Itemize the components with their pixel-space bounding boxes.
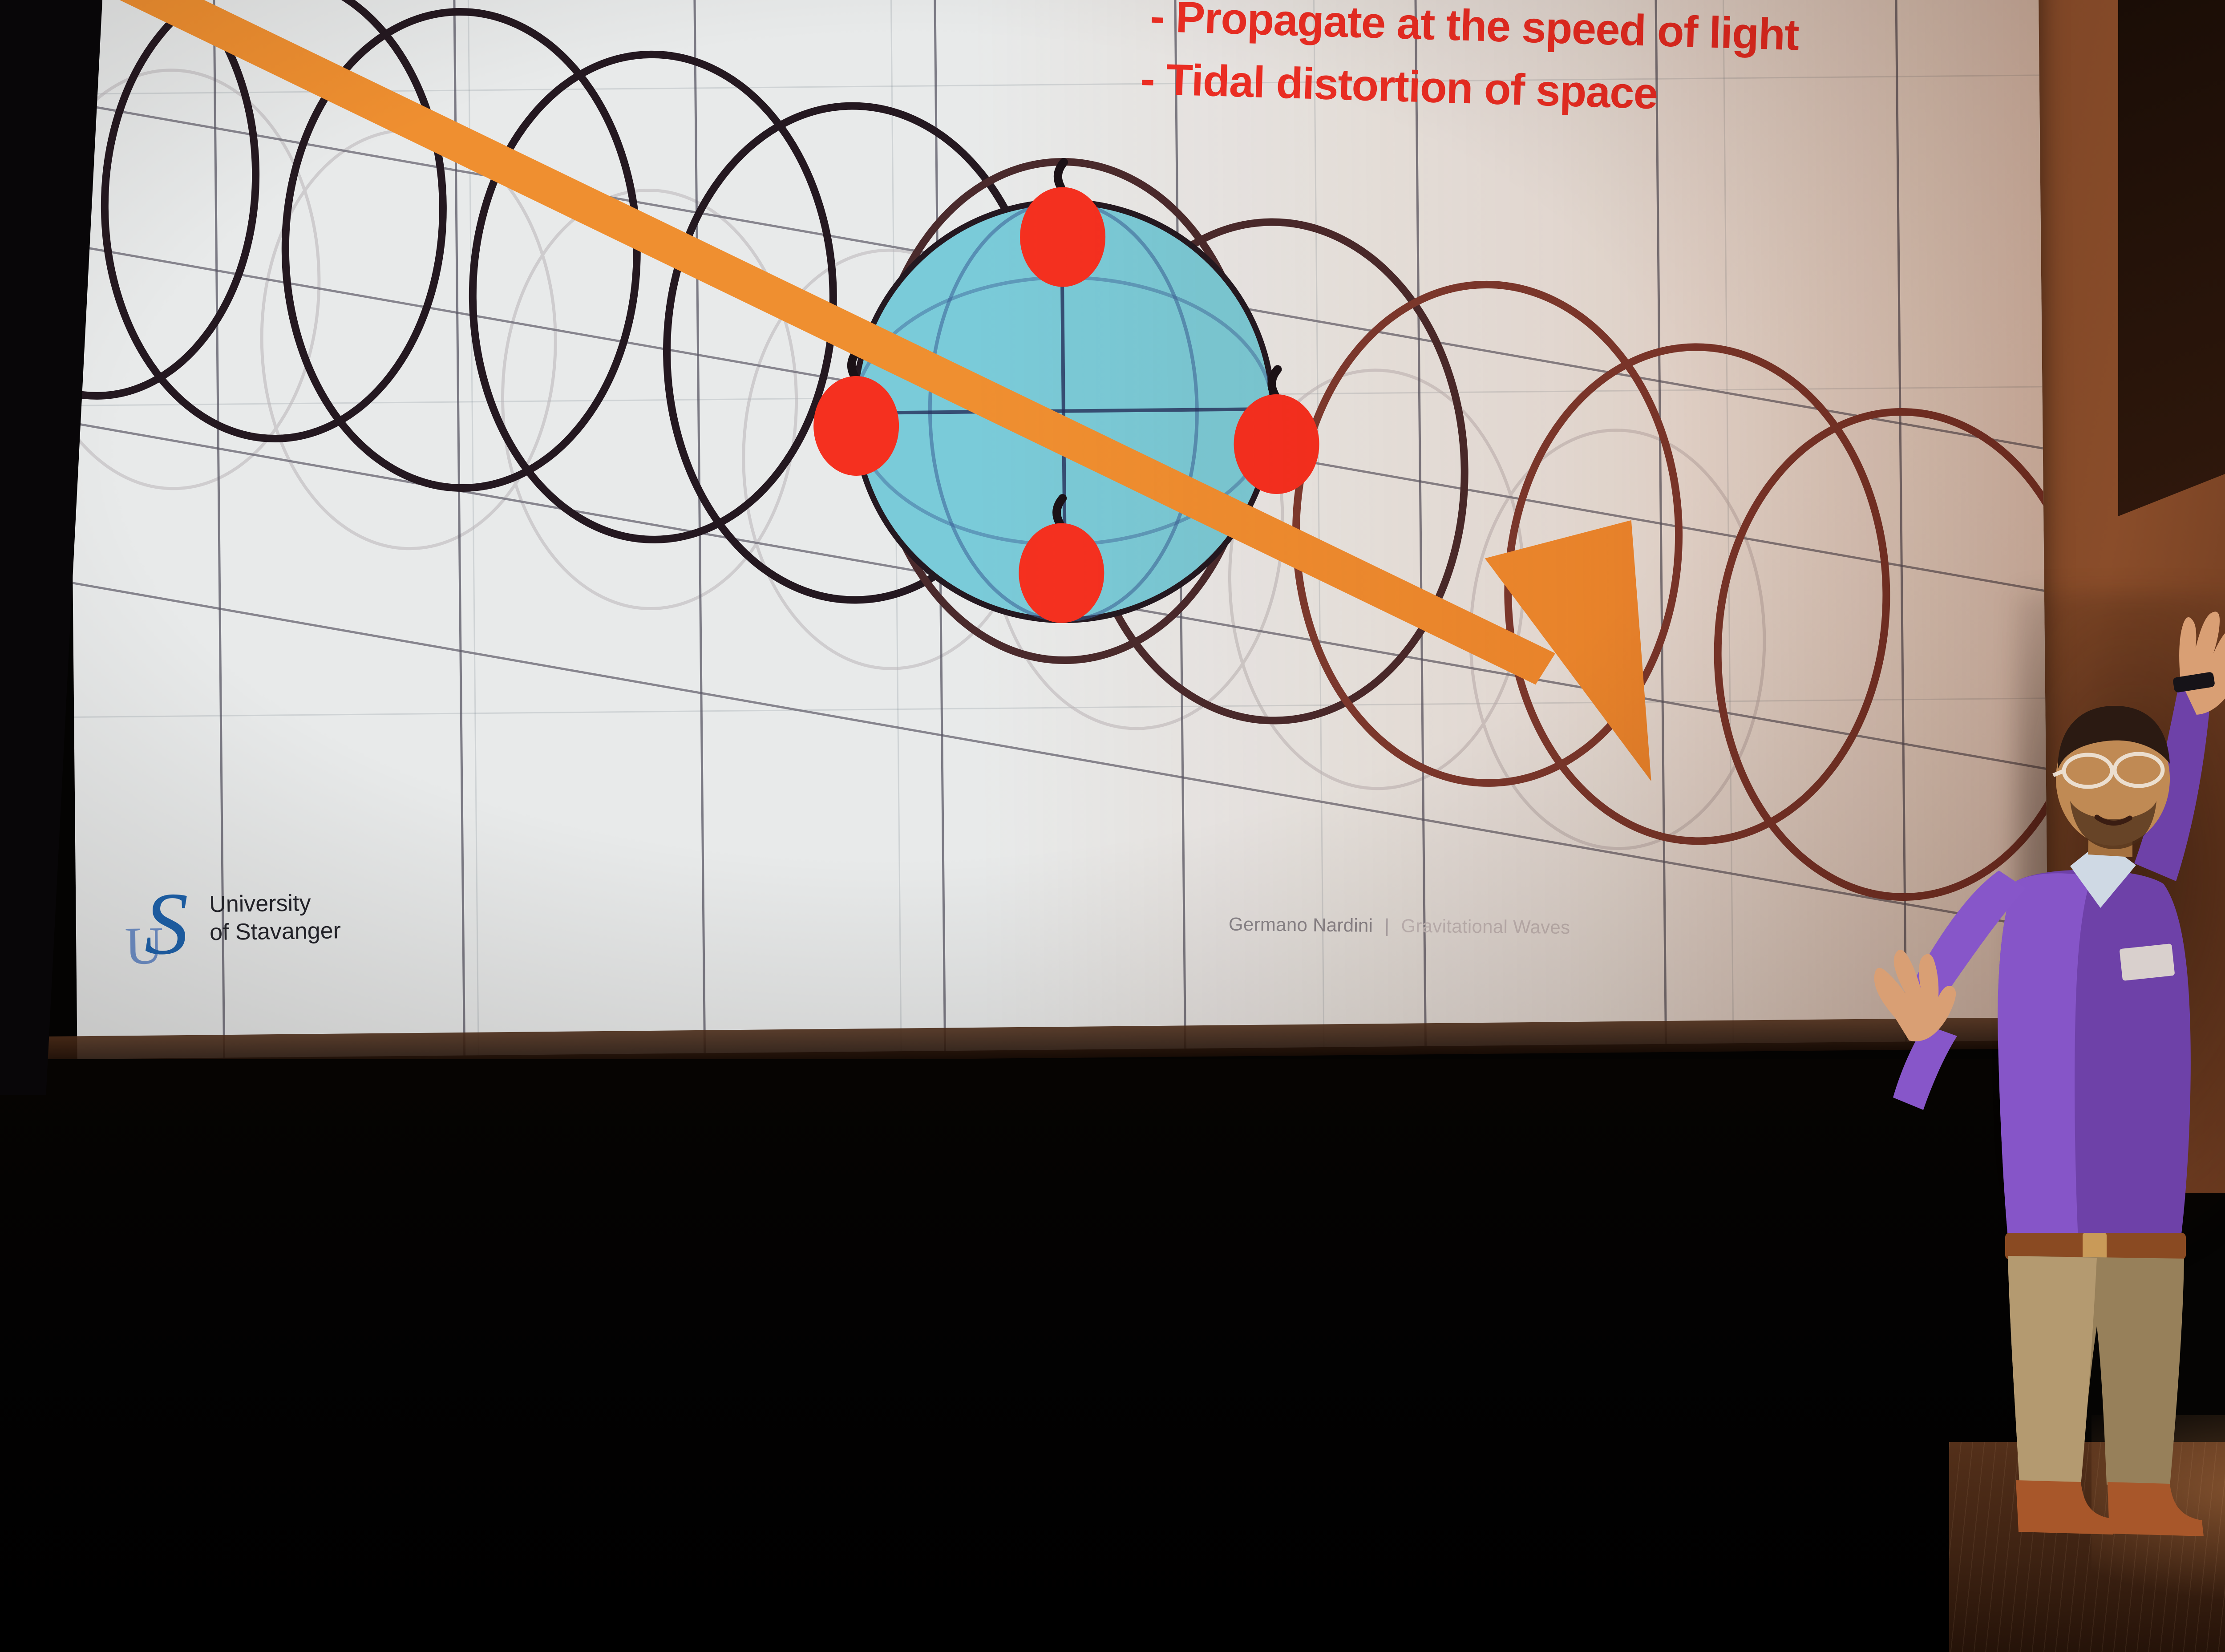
presenter-belt-buckle — [2083, 1233, 2107, 1259]
logo-line-1: University — [209, 889, 341, 919]
presenter-trousers-lit — [2008, 1256, 2097, 1486]
logo-letter-s: S — [144, 879, 190, 969]
dark-ceiling-corner — [2118, 0, 2225, 516]
projection-screen: crucial cteristics is - Propagate at the… — [67, 0, 2049, 1059]
presenter-shoe-right — [2108, 1482, 2204, 1536]
footer-separator: | — [1384, 915, 1390, 936]
logo-wordmark: University of Stavanger — [209, 889, 341, 947]
slide-footer: Germano Nardini | Gravitational Waves — [1229, 914, 1570, 938]
presenter-name-badge — [2120, 943, 2175, 981]
logo-line-2: of Stavanger — [210, 917, 341, 947]
university-logo: U S University of Stavanger — [122, 875, 341, 962]
us-monogram-icon: U S — [122, 877, 196, 962]
presenter-shoe-left — [2016, 1480, 2113, 1535]
dark-foreground — [0, 1059, 2029, 1652]
presenter — [1869, 570, 2225, 1567]
footer-author: Germano Nardini — [1229, 914, 1373, 936]
photo-scene: crucial cteristics is - Propagate at the… — [0, 0, 2225, 1652]
footer-title: Gravitational Waves — [1401, 915, 1570, 938]
gravitational-wave-diagram — [67, 0, 2049, 1059]
